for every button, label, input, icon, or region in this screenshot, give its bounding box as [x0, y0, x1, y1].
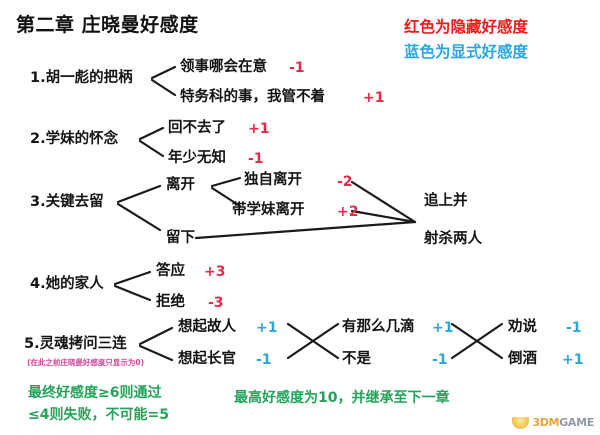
option-5-stage2-2-value: -1 — [432, 353, 448, 367]
option-1-1-text: 领事哪会在意 — [180, 60, 267, 75]
option-5-stage2-1-text: 有那么几滴 — [342, 320, 415, 335]
footer-rule-line2: ≤4则失败，不可能=5 — [28, 408, 169, 422]
option-5-1-text: 想起故人 — [178, 320, 236, 335]
option-5-stage3-2-text: 倒酒 — [508, 352, 537, 367]
option-1-1-value: -1 — [289, 61, 305, 75]
suboption-3-2-text: 带学妹离开 — [232, 203, 305, 218]
option-5-stage3-1-text: 劝说 — [508, 320, 537, 335]
watermark-3dmgame: 3DM GAME — [512, 416, 594, 429]
option-1-2-value: +1 — [363, 91, 384, 105]
suboption-3-1-text: 独自离开 — [244, 173, 302, 188]
option-5-2-value: -1 — [256, 353, 272, 367]
option-3-1-text: 离开 — [166, 178, 195, 193]
option-5-stage2-2-text: 不是 — [342, 352, 371, 367]
section-label-2: 2.学妹的怀念 — [30, 132, 118, 147]
suboption-3-2-value: +2 — [337, 205, 358, 219]
section-label-3: 3.关键去留 — [30, 195, 104, 210]
option-5-1-value: +1 — [256, 321, 277, 335]
footer-rule-line1: 最终好感度≥6则通过 — [28, 386, 161, 400]
option-4-1-value: +3 — [204, 265, 225, 279]
watermark-brand-second: GAME — [559, 416, 594, 429]
option-2-2-value: -1 — [248, 152, 264, 166]
option-1-2-text: 特务科的事，我管不着 — [180, 90, 325, 105]
bowl-icon — [512, 417, 529, 429]
watermark-brand-first: 3DM — [532, 416, 559, 429]
option-5-stage3-1-value: -1 — [566, 321, 582, 335]
section-label-1: 1.胡一彪的把柄 — [30, 71, 133, 86]
section-label-4: 4.她的家人 — [30, 277, 104, 292]
option-2-1-value: +1 — [248, 122, 269, 136]
option-4-2-value: -3 — [208, 296, 224, 310]
legend-visible-favorability: 蓝色为显式好感度 — [404, 45, 528, 61]
option-5-stage3-2-value: +1 — [562, 353, 583, 367]
legend-hidden-favorability: 红色为隐藏好感度 — [404, 20, 528, 36]
option-2-2-text: 年少无知 — [168, 151, 226, 166]
option-4-2-text: 拒绝 — [156, 295, 185, 310]
suboption-3-1-value: -2 — [337, 175, 353, 189]
option-3-2-text: 留下 — [166, 231, 195, 246]
option-5-2-text: 想起长官 — [178, 352, 236, 367]
option-4-1-text: 答应 — [156, 264, 185, 279]
favorability-flowchart: 第二章 庄晓曼好感度 红色为隐藏好感度 蓝色为显式好感度 1.胡一彪的把柄 领事… — [0, 0, 600, 435]
section-5-note: (在此之前庄晓曼好感度只显示为0) — [27, 359, 144, 367]
outcome-3-line2: 射杀两人 — [424, 232, 482, 247]
option-5-stage2-1-value: +1 — [432, 321, 453, 335]
page-title: 第二章 庄晓曼好感度 — [16, 16, 199, 35]
outcome-3-line1: 追上并 — [424, 194, 468, 209]
option-2-1-text: 回不去了 — [168, 121, 226, 136]
footer-rule-right: 最高好感度为10，并继承至下一章 — [234, 391, 449, 405]
section-label-5: 5.灵魂拷问三连 — [24, 337, 127, 352]
